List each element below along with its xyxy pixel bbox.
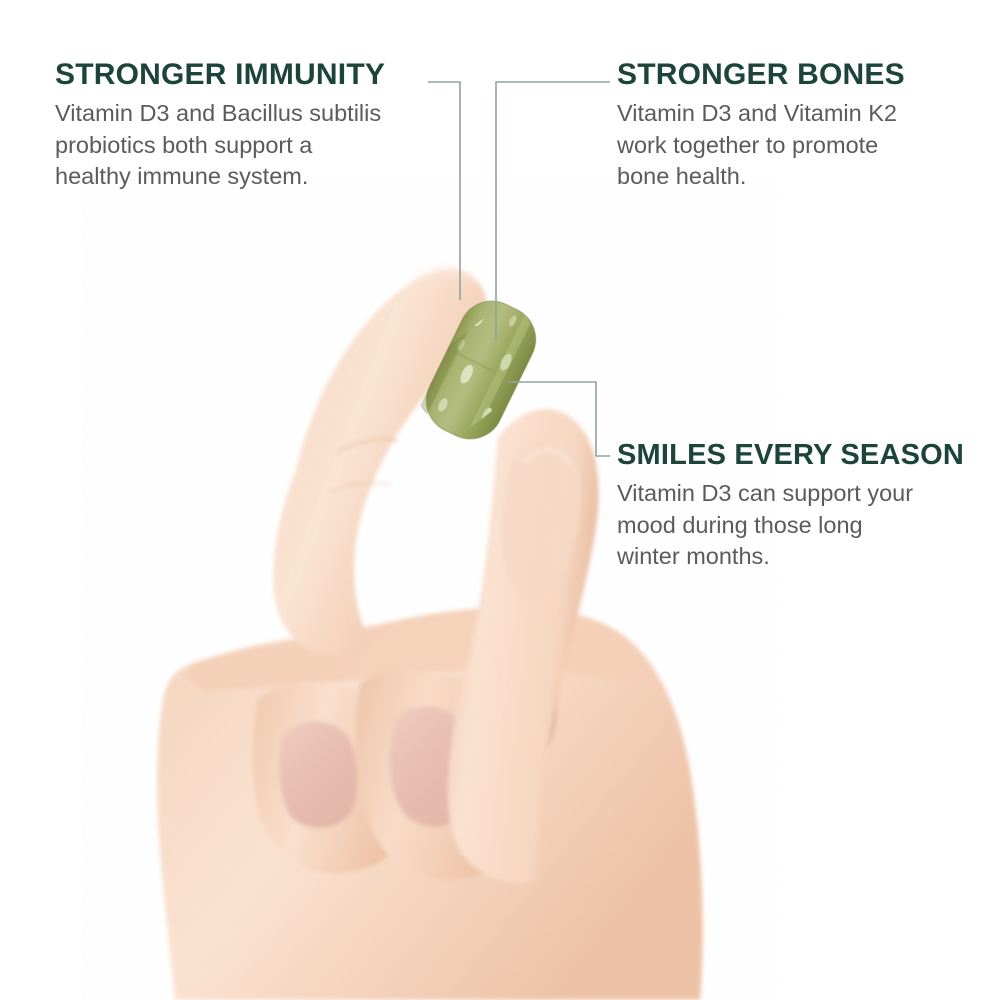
callout-heading: SMILES EVERY SEASON [617, 438, 987, 472]
callout-stronger-immunity: STRONGER IMMUNITY Vitamin D3 and Bacillu… [55, 58, 455, 193]
infographic-page: STRONGER IMMUNITY Vitamin D3 and Bacillu… [0, 0, 1000, 1000]
callout-body: Vitamin D3 and Bacillus subtilis probiot… [55, 98, 455, 193]
callout-body-line: Vitamin D3 and Bacillus subtilis [55, 98, 455, 130]
callout-body-line: mood during those long [617, 510, 987, 542]
callout-smiles-every-season: SMILES EVERY SEASON Vitamin D3 can suppo… [617, 438, 987, 573]
callout-body-line: Vitamin D3 and Vitamin K2 [617, 98, 977, 130]
callout-heading: STRONGER IMMUNITY [55, 58, 455, 92]
callout-body-line: probiotics both support a [55, 130, 455, 162]
callout-body: Vitamin D3 can support your mood during … [617, 478, 987, 573]
callout-stronger-bones: STRONGER BONES Vitamin D3 and Vitamin K2… [617, 58, 977, 193]
callout-heading: STRONGER BONES [617, 58, 977, 92]
callout-body-line: bone health. [617, 161, 977, 193]
callout-body: Vitamin D3 and Vitamin K2 work together … [617, 98, 977, 193]
callout-body-line: work together to promote [617, 130, 977, 162]
callout-body-line: healthy immune system. [55, 161, 455, 193]
callout-body-line: winter months. [617, 541, 987, 573]
callout-body-line: Vitamin D3 can support your [617, 478, 987, 510]
